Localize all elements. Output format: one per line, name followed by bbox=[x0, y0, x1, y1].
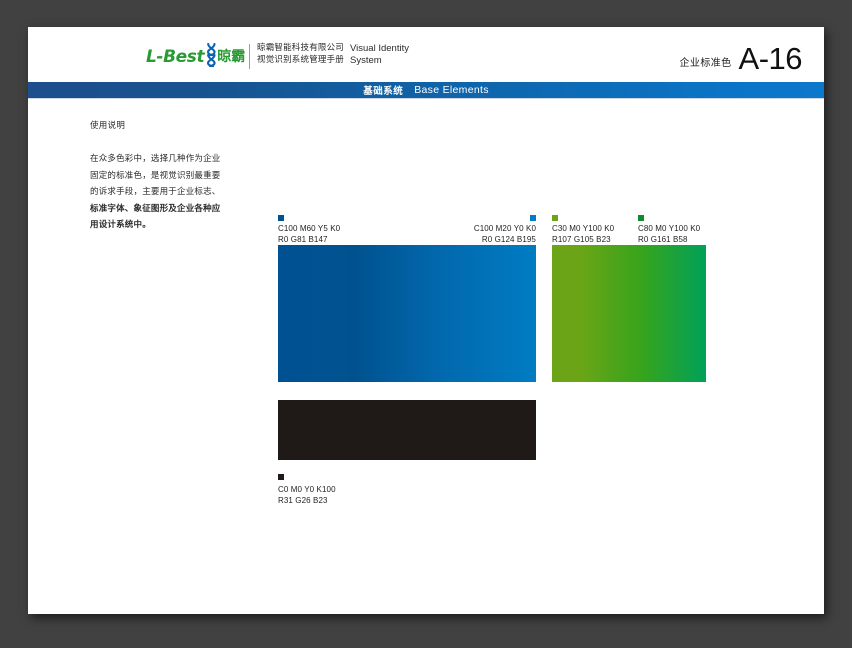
cmyk-value: C0 M0 Y0 K100 bbox=[278, 485, 336, 496]
color-chip-green-start bbox=[552, 215, 558, 221]
cmyk-value: C100 M20 Y0 K0 bbox=[474, 224, 536, 235]
usage-notes-line: 固定的标准色，是视觉识别最重要 bbox=[90, 168, 238, 185]
usage-notes-title: 使用说明 bbox=[90, 119, 238, 131]
usage-notes-line: 标准字体、象征图形及企业各种应 bbox=[90, 201, 238, 218]
company-name-line2: 视觉识别系统管理手册 bbox=[257, 55, 344, 67]
logo-wordmark: L-Best bbox=[146, 49, 204, 66]
color-caption-black: C0 M0 Y0 K100 R31 G26 B23 bbox=[278, 485, 336, 506]
page-code-block: 企业标准色 A-16 bbox=[680, 37, 802, 73]
cmyk-value: C30 M0 Y100 K0 bbox=[552, 224, 614, 235]
rgb-value: R0 G81 B147 bbox=[278, 235, 340, 246]
section-title-cn: 基础系统 bbox=[363, 83, 403, 97]
section-title-en: Base Elements bbox=[414, 84, 489, 96]
color-bar-black bbox=[278, 400, 536, 460]
header-divider bbox=[249, 44, 250, 69]
logo-cn-name: 晾霸 bbox=[217, 50, 245, 64]
section-band-inner: 基础系统 Base Elements bbox=[28, 82, 824, 98]
page-code: A-16 bbox=[739, 44, 802, 73]
company-name-cn: 晾霸智能科技有限公司 视觉识别系统管理手册 bbox=[257, 43, 344, 66]
rgb-value: R0 G124 B195 bbox=[474, 235, 536, 246]
color-caption-blue-start: C100 M60 Y5 K0 R0 G81 B147 bbox=[278, 224, 340, 245]
usage-notes-line: 在众多色彩中，选择几种作为企业 bbox=[90, 151, 238, 168]
rgb-value: R107 G105 B23 bbox=[552, 235, 614, 246]
color-bar-green bbox=[552, 245, 706, 382]
rgb-value: R31 G26 B23 bbox=[278, 496, 336, 507]
page-code-label: 企业标准色 bbox=[680, 54, 739, 73]
system-name-line1: Visual Identity bbox=[350, 43, 409, 55]
usage-notes-body: 在众多色彩中，选择几种作为企业 固定的标准色，是视觉识别最重要 的诉求手段，主要… bbox=[90, 151, 238, 234]
document-viewer: L-Best 晾霸 晾霸智能科技有限公司 视觉识别系统管理手册 Visual bbox=[0, 0, 852, 648]
system-name-line2: System bbox=[350, 55, 409, 67]
cmyk-value: C80 M0 Y100 K0 bbox=[638, 224, 700, 235]
manual-page: L-Best 晾霸 晾霸智能科技有限公司 视觉识别系统管理手册 Visual bbox=[28, 27, 824, 614]
rgb-value: R0 G161 B58 bbox=[638, 235, 700, 246]
color-chip-green-end bbox=[638, 215, 644, 221]
color-bar-blue bbox=[278, 245, 536, 382]
usage-notes: 使用说明 在众多色彩中，选择几种作为企业 固定的标准色，是视觉识别最重要 的诉求… bbox=[90, 119, 238, 234]
color-chip-blue-end bbox=[530, 215, 536, 221]
color-caption-green-start: C30 M0 Y100 K0 R107 G105 B23 bbox=[552, 224, 614, 245]
company-name-line1: 晾霸智能科技有限公司 bbox=[257, 43, 344, 55]
color-chip-blue-start bbox=[278, 215, 284, 221]
color-chip-black bbox=[278, 474, 284, 480]
section-band: 基础系统 Base Elements bbox=[28, 82, 824, 98]
usage-notes-line: 的诉求手段，主要用于企业标志、 bbox=[90, 184, 238, 201]
page-header: L-Best 晾霸 晾霸智能科技有限公司 视觉识别系统管理手册 Visual bbox=[28, 27, 824, 82]
color-caption-green-end: C80 M0 Y100 K0 R0 G161 B58 bbox=[638, 224, 700, 245]
usage-notes-line: 用设计系统中。 bbox=[90, 217, 238, 234]
brand-logo: L-Best 晾霸 bbox=[146, 42, 245, 72]
cmyk-value: C100 M60 Y5 K0 bbox=[278, 224, 340, 235]
system-name-en: Visual Identity System bbox=[350, 43, 409, 66]
color-caption-blue-end: C100 M20 Y0 K0 R0 G124 B195 bbox=[474, 224, 536, 245]
